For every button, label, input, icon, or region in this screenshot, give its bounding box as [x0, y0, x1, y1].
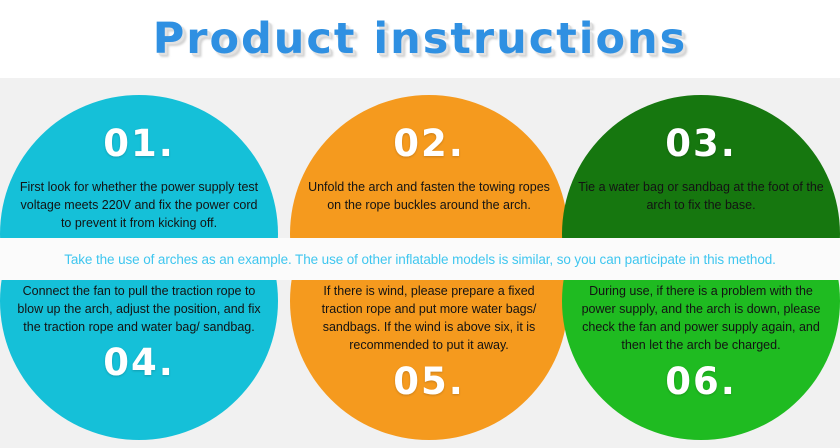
product-instructions-poster: Product instructions 01. First look for …: [0, 0, 840, 448]
page-title: Product instructions: [153, 18, 688, 61]
step-circle-06: During use, if there is a problem with t…: [562, 280, 840, 440]
step-number-05: 05.: [393, 363, 465, 400]
step-circle-04: Connect the fan to pull the traction rop…: [0, 280, 278, 440]
step-number-04: 04.: [103, 344, 175, 381]
step-circle-02: 02. Unfold the arch and fasten the towin…: [290, 95, 568, 255]
step-number-06: 06.: [665, 363, 737, 400]
step-text-03: Tie a water bag or sandbag at the foot o…: [578, 178, 824, 214]
step-circle-03: 03. Tie a water bag or sandbag at the fo…: [562, 95, 840, 255]
step-text-02: Unfold the arch and fasten the towing ro…: [306, 178, 552, 214]
banner-text: Take the use of arches as an example. Th…: [64, 252, 776, 267]
step-text-05: If there is wind, please prepare a fixed…: [306, 282, 552, 355]
step-circle-01: 01. First look for whether the power sup…: [0, 95, 278, 255]
step-text-04: Connect the fan to pull the traction rop…: [16, 282, 262, 336]
step-circle-05: If there is wind, please prepare a fixed…: [290, 280, 568, 440]
step-text-06: During use, if there is a problem with t…: [578, 282, 824, 355]
steps-row-top: 01. First look for whether the power sup…: [0, 95, 840, 255]
step-number-01: 01.: [103, 125, 175, 162]
title-band: Product instructions: [0, 0, 840, 78]
steps-stage: 01. First look for whether the power sup…: [0, 78, 840, 448]
step-number-02: 02.: [393, 125, 465, 162]
banner-strip: Take the use of arches as an example. Th…: [0, 238, 840, 280]
steps-row-bottom: Connect the fan to pull the traction rop…: [0, 280, 840, 440]
step-number-03: 03.: [665, 125, 737, 162]
step-text-01: First look for whether the power supply …: [16, 178, 262, 232]
